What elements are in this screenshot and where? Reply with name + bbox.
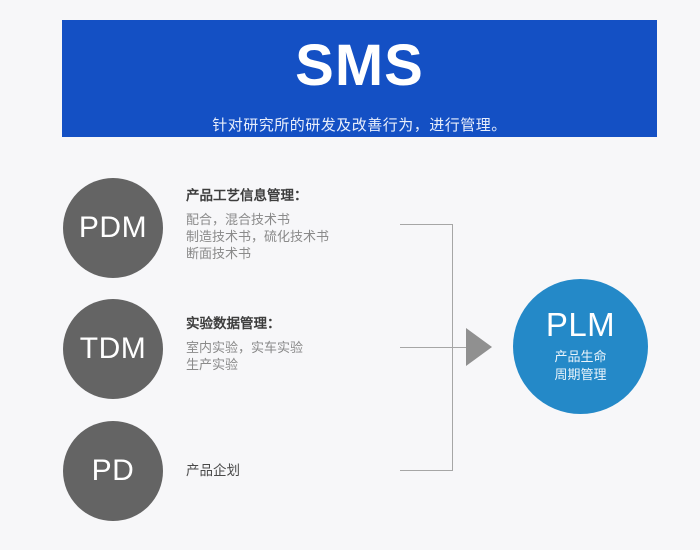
source-text-pd: 产品企划 bbox=[186, 461, 401, 481]
source-detail-line: 生产实验 bbox=[186, 356, 401, 373]
source-circle-pdm[interactable]: PDM bbox=[63, 178, 163, 278]
source-circle-label-pd: PD bbox=[92, 454, 135, 488]
connector-line-bottom bbox=[400, 470, 453, 471]
source-heading-pdm: 产品工艺信息管理： bbox=[186, 186, 401, 206]
header-banner: SMS 针对研究所的研发及改善行为，进行管理。 bbox=[62, 20, 657, 137]
arrow-right-icon bbox=[466, 328, 492, 366]
source-text-pdm: 产品工艺信息管理： 配合，混合技术书 制造技术书，硫化技术书 断面技术书 bbox=[186, 186, 401, 262]
target-circle-sublabel: 产品生命 周期管理 bbox=[554, 348, 606, 384]
banner-subtitle: 针对研究所的研发及改善行为，进行管理。 bbox=[62, 115, 657, 137]
source-circle-label-pdm: PDM bbox=[79, 211, 147, 245]
connector-line-top bbox=[400, 224, 453, 225]
target-circle-plm[interactable]: PLM 产品生命 周期管理 bbox=[513, 279, 648, 414]
source-text-tdm: 实验数据管理： 室内实验，实车实验 生产实验 bbox=[186, 314, 401, 373]
source-detail-line: 产品企划 bbox=[186, 461, 401, 481]
diagram-canvas: SMS 针对研究所的研发及改善行为，进行管理。 PDM 产品工艺信息管理： 配合… bbox=[0, 0, 700, 550]
target-sub-line-2: 周期管理 bbox=[554, 366, 606, 384]
source-detail-line: 配合，混合技术书 bbox=[186, 211, 401, 228]
source-detail-line: 室内实验，实车实验 bbox=[186, 339, 401, 356]
connector-line-middle bbox=[400, 347, 467, 348]
source-circle-label-tdm: TDM bbox=[80, 332, 146, 366]
target-circle-label: PLM bbox=[546, 306, 615, 344]
source-circle-pd[interactable]: PD bbox=[63, 421, 163, 521]
source-detail-line: 制造技术书，硫化技术书 bbox=[186, 228, 401, 245]
connector-line-vertical bbox=[452, 224, 453, 471]
source-detail-line: 断面技术书 bbox=[186, 245, 401, 262]
target-sub-line-1: 产品生命 bbox=[554, 348, 606, 366]
source-circle-tdm[interactable]: TDM bbox=[63, 299, 163, 399]
source-heading-tdm: 实验数据管理： bbox=[186, 314, 401, 334]
banner-title: SMS bbox=[62, 32, 657, 100]
